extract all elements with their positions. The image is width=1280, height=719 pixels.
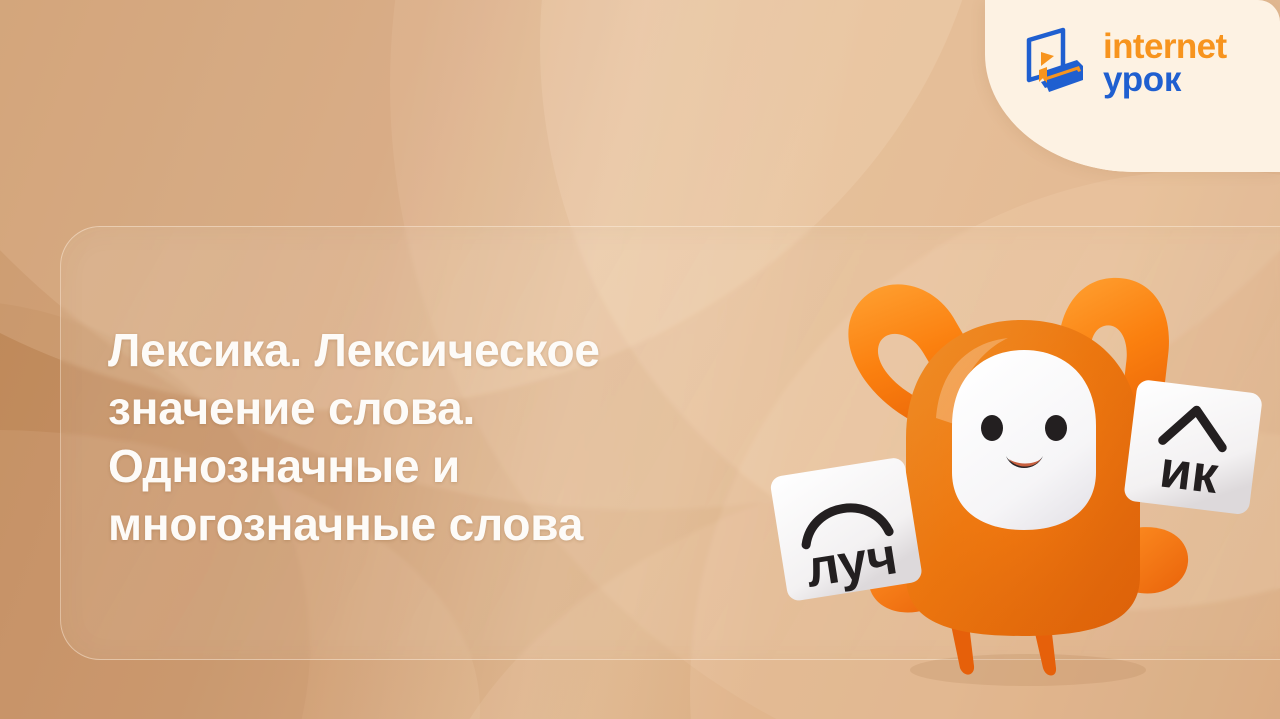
card-ik: ик: [1123, 379, 1263, 515]
logo-row: internet урок: [1021, 26, 1227, 100]
mascot-eye-left: [981, 415, 1003, 441]
card-luch: луч: [769, 456, 923, 602]
logo-text-urok: урок: [1103, 63, 1227, 96]
brand-logo-badge[interactable]: internet урок: [985, 0, 1280, 172]
slide-root: Лексика. Лексическое значение слова. Одн…: [0, 0, 1280, 719]
mascot-shadow: [910, 654, 1146, 686]
page-title: Лексика. Лексическое значение слова. Одн…: [108, 322, 748, 554]
mascot-illustration: луч ик: [760, 258, 1280, 688]
logo-text-internet: internet: [1103, 30, 1227, 63]
mascot-face: [952, 350, 1096, 530]
logo-wordmark: internet урок: [1103, 30, 1227, 97]
card-ik-text: ик: [1157, 440, 1223, 505]
laptop-book-play-icon: [1021, 26, 1089, 100]
mascot-eye-right: [1045, 415, 1067, 441]
